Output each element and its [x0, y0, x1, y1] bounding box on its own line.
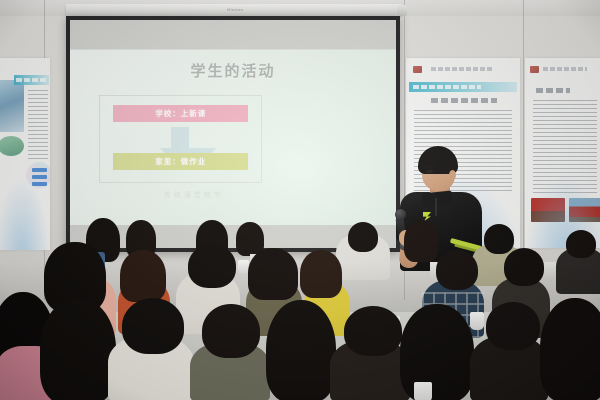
- attendee-head: [566, 230, 596, 258]
- slide-diagram-box: 学校：上新课 家里：做作业: [99, 95, 262, 183]
- slide-title: 学生的活动: [70, 60, 396, 81]
- attendee-head: [348, 222, 378, 252]
- poster-left-photo-oval: [0, 136, 24, 156]
- attendee-hair: [404, 220, 438, 262]
- poster-left-text-column: [28, 90, 48, 160]
- presenter-placket: [435, 198, 437, 216]
- slide-caption: 传统课堂教学: [109, 190, 279, 200]
- projector-screen-roller: Mledian: [66, 4, 402, 16]
- attendee-hair: [540, 298, 600, 400]
- attendee-head: [484, 224, 514, 254]
- attendee-hair: [266, 300, 336, 400]
- poster-left-band-text: [16, 78, 45, 82]
- attendee-head: [486, 302, 540, 350]
- slide-down-arrow-icon: [171, 127, 189, 148]
- poster-right: [525, 58, 600, 248]
- poster-right-headline: [536, 88, 570, 93]
- poster-left-chip-1: [32, 168, 47, 172]
- projected-slide: 学生的活动 学校：上新课 家里：做作业 传统课堂教学: [70, 50, 396, 226]
- attendee-head: [504, 248, 544, 286]
- poster-center-band-text: [413, 85, 481, 89]
- lecture-hall-photo: Mledian 学生的活动 学校：上新课 家里：做作业 传统课堂教学: [0, 0, 600, 400]
- attendee-hair: [300, 250, 342, 298]
- poster-center-logo-text: [431, 67, 494, 71]
- poster-left: [0, 58, 50, 250]
- attendee-head: [122, 298, 184, 354]
- attendee-hair: [248, 248, 298, 300]
- poster-left-photo: [0, 80, 24, 132]
- projector-screen-frame: 学生的活动 学校：上新课 家里：做作业 传统课堂教学: [66, 16, 400, 252]
- slide-chip-home: 家里：做作业: [113, 153, 248, 170]
- roller-end-cap: [397, 5, 407, 16]
- poster-right-logo-icon: [530, 66, 539, 73]
- projector-screen-surface: 学生的活动 学校：上新课 家里：做作业 传统课堂教学: [70, 20, 396, 248]
- attendee-head: [188, 244, 236, 288]
- presenter-eye: [426, 170, 433, 173]
- paper-cup: [414, 382, 432, 400]
- presenter-eyebrow: [425, 166, 434, 168]
- audience: [0, 236, 600, 400]
- attendee-head: [344, 306, 402, 356]
- attendee-hair: [400, 304, 474, 400]
- roller-brand-label: Mledian: [227, 8, 243, 12]
- attendee-head: [202, 304, 260, 358]
- attendee-head: [436, 250, 478, 290]
- poster-center-logo-icon: [413, 66, 422, 73]
- microphone-head-icon: [395, 209, 406, 220]
- slide-chip-school: 学校：上新课: [113, 105, 248, 122]
- attendee-hair: [40, 298, 116, 400]
- presenter-ear: [449, 170, 456, 180]
- attendee-hair: [120, 250, 166, 302]
- poster-right-logo-text: [543, 67, 587, 71]
- poster-center-headline: [431, 98, 497, 103]
